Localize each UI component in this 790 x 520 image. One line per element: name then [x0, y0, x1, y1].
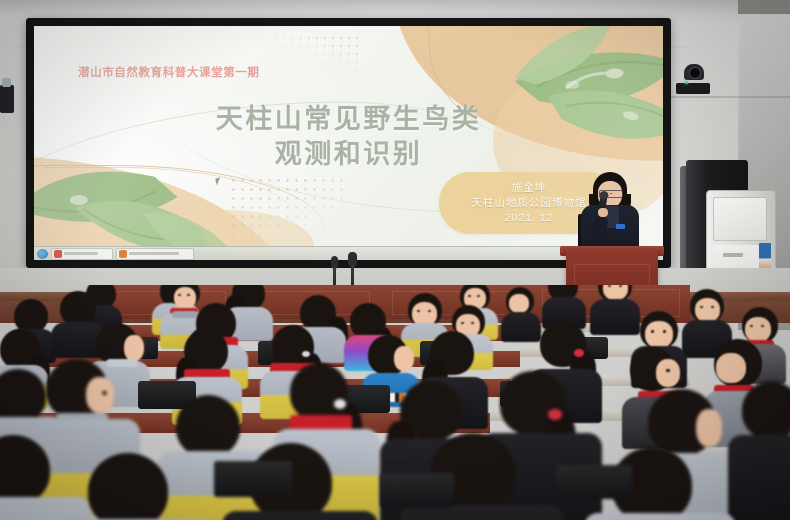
curtain-rail — [738, 0, 790, 14]
credit-organization: 天柱山地质公园博物馆 — [472, 196, 587, 210]
app-label — [64, 252, 98, 255]
wall-sensor-icon — [0, 85, 14, 113]
credit-presenter: 施金坤 — [512, 181, 547, 195]
slide-dot-grid-center — [229, 176, 349, 238]
camera-lens — [689, 67, 701, 79]
seat-back — [214, 461, 292, 497]
ac-brand-logo — [723, 253, 743, 257]
camera-bracket — [676, 83, 710, 94]
taskbar-item[interactable] — [116, 248, 194, 260]
presenter-lapel-badge — [616, 224, 625, 229]
app-icon — [54, 250, 62, 258]
projection-screen[interactable]: 潜山市自然教育科普大课堂第一期 天柱山常见野生鸟类 观测和识别 施金坤 天柱山地… — [34, 26, 663, 260]
slide-title-line1: 天柱山常见野生鸟类 — [216, 104, 482, 134]
slide-title-line2: 观测和识别 — [34, 137, 663, 172]
start-orb-icon[interactable] — [37, 249, 48, 259]
ptz-camera-icon — [676, 64, 712, 94]
credit-date: 2021. 12 — [505, 211, 554, 225]
presenter-hand — [598, 208, 608, 217]
slide-dot-grid-top — [273, 34, 363, 86]
slide-title: 天柱山常见野生鸟类 观测和识别 — [34, 102, 663, 172]
app-label — [129, 252, 179, 255]
audience-area — [0, 285, 790, 520]
camera-led — [685, 81, 688, 84]
seat-back — [380, 473, 454, 507]
lecture-hall-photo: 潜山市自然教育科普大课堂第一期 天柱山常见野生鸟类 观测和识别 施金坤 天柱山地… — [0, 0, 790, 520]
seat-back — [556, 465, 632, 499]
app-icon — [119, 250, 127, 258]
taskbar-item[interactable] — [51, 248, 113, 260]
ac-vent — [713, 197, 767, 241]
slide-kicker: 潜山市自然教育科普大课堂第一期 — [78, 64, 260, 80]
